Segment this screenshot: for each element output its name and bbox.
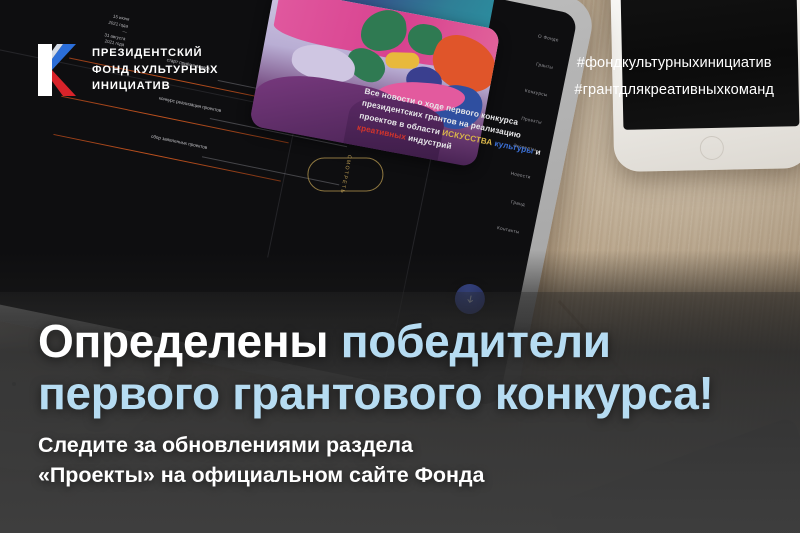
nav-item-5[interactable]: Новости (510, 171, 531, 180)
brand-logo: ПРЕЗИДЕНТСКИЙ ФОНД КУЛЬТУРНЫХ ИНИЦИАТИВ (36, 42, 218, 98)
cta-label: СМОТРЕТЬ (339, 154, 353, 194)
nav-item-7[interactable]: Контакты (497, 225, 520, 234)
headline-line-2: первого грантового конкурса! (38, 368, 778, 420)
hashtag-0: #фондкультурныхинициатив (574, 50, 774, 77)
nav-item-2[interactable]: Конкурсы (524, 88, 548, 98)
brand-name-line-2: ФОНД КУЛЬТУРНЫХ (92, 62, 218, 78)
fund-k-logo-icon (36, 42, 80, 98)
subtitle-line-1: Следите за обновлениями раздела (38, 430, 658, 460)
nav-item-0[interactable]: О Фонде (538, 33, 560, 42)
hashtag-1: #грантдлякреативныхкоманд (574, 77, 774, 104)
page-title: Определены победители первого грантового… (38, 316, 778, 420)
brand-name-line-3: ИНИЦИАТИВ (92, 78, 218, 94)
nav-item-6[interactable]: Гранд (510, 199, 525, 207)
headline-word-blue: победители (341, 315, 611, 367)
brand-name-line-1: ПРЕЗИДЕНТСКИЙ (92, 45, 218, 61)
headline-word-white: Определены (38, 315, 328, 367)
headline-line-1: Определены победители (38, 316, 778, 368)
hashtag-group: #фондкультурныхинициатив #грантдлякреати… (574, 50, 774, 103)
page-subtitle: Следите за обновлениями раздела «Проекты… (38, 430, 658, 490)
site-cta-button[interactable]: СМОТРЕТЬ (307, 157, 383, 191)
copy-highlight-culture: культуры (494, 139, 535, 156)
home-button-icon (700, 136, 724, 160)
copy-join-2: и (532, 147, 541, 157)
brand-name: ПРЕЗИДЕНТСКИЙ ФОНД КУЛЬТУРНЫХ ИНИЦИАТИВ (92, 45, 218, 94)
subtitle-line-2: «Проекты» на официальном сайте Фонда (38, 460, 658, 490)
nav-item-1[interactable]: Гранты (536, 62, 554, 70)
poster-canvas: О Фонде Гранты Конкурсы Проекты Эксперты… (0, 0, 800, 533)
